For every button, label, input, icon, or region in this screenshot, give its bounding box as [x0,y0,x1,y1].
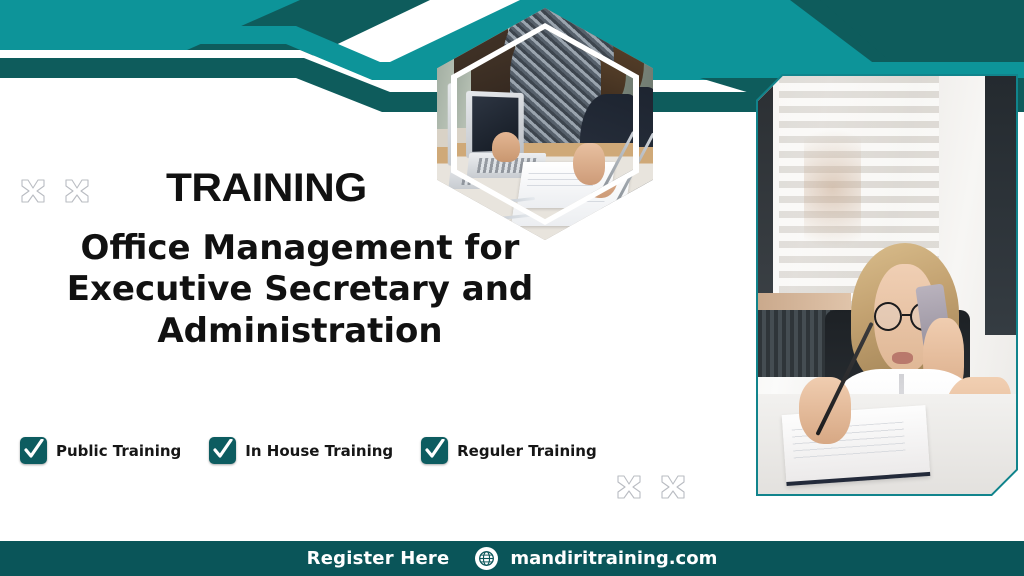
right-photo [758,76,1016,494]
checkbox-checked[interactable] [421,437,448,464]
eyebrow-title: TRAINING [166,166,367,211]
poster-canvas: TRAINING Office Management for Executive… [0,0,1024,576]
training-type-item[interactable]: Public Training [20,437,181,464]
checkbox-checked[interactable] [209,437,236,464]
website-link[interactable]: mandiritraining.com [475,547,717,570]
x-decoration-group-right [610,473,692,511]
checkbox-checked[interactable] [20,437,47,464]
hexagon-photo [437,8,653,240]
x-mark-icon [58,177,96,215]
check-icon [424,439,445,461]
x-mark-icon [610,473,648,511]
x-mark-icon [14,177,52,215]
register-here-label[interactable]: Register Here [307,548,450,569]
page-title: Office Management for Executive Secretar… [20,228,580,352]
website-url: mandiritraining.com [510,548,717,569]
footer-bar: Register Here mandiritraining.com [0,541,1024,576]
training-type-label: In House Training [245,442,393,460]
training-type-label: Public Training [56,442,181,460]
x-decoration-group-left [14,177,96,215]
globe-icon [475,547,498,570]
training-type-item[interactable]: Reguler Training [421,437,597,464]
office-scene [758,76,1016,494]
check-icon [23,439,44,461]
training-type-item[interactable]: In House Training [209,437,393,464]
training-type-label: Reguler Training [457,442,597,460]
x-mark-icon [654,473,692,511]
training-type-list: Public Training In House Training Regule… [20,437,597,464]
check-icon [212,439,233,461]
